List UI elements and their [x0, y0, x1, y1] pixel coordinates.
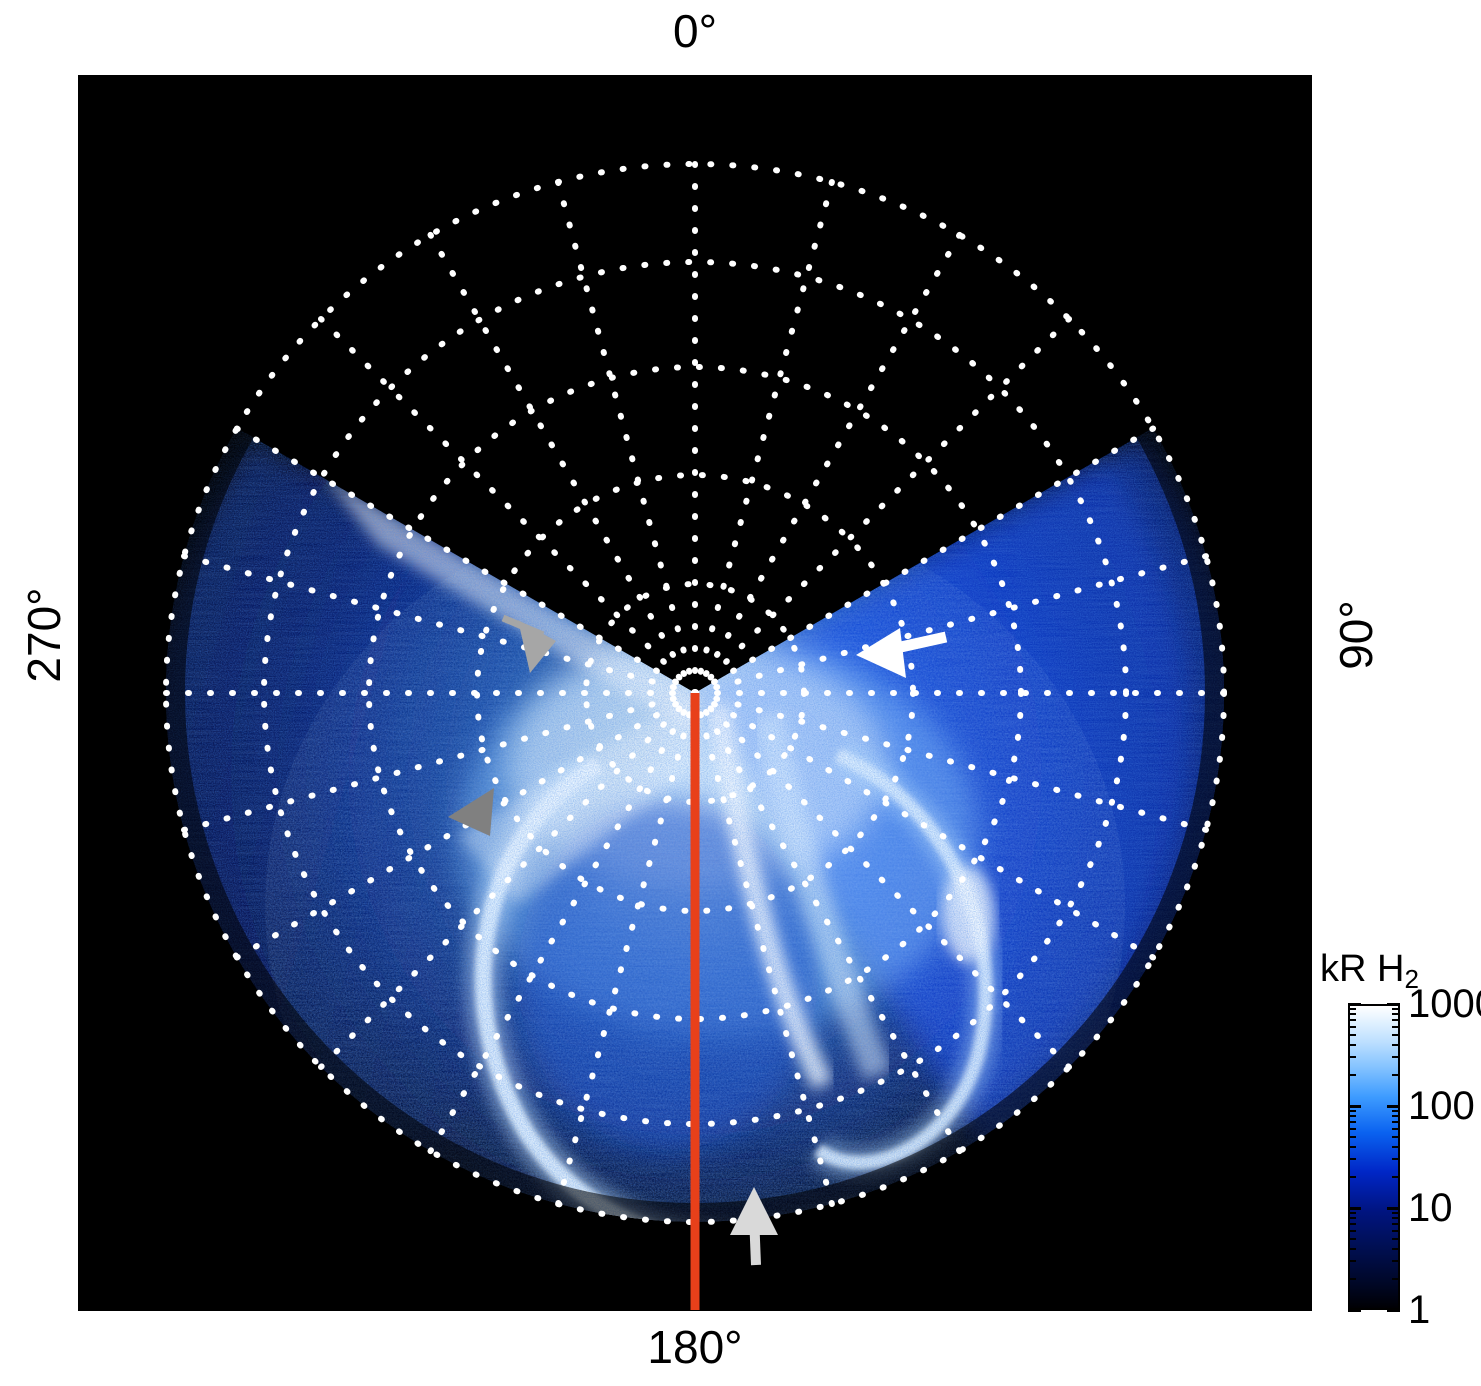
- colorbar-minor-tick: [1392, 1230, 1400, 1232]
- colorbar-minor-tick: [1392, 1019, 1400, 1021]
- colorbar-minor-tick: [1348, 1110, 1356, 1112]
- colorbar-gradient: [1348, 1004, 1400, 1310]
- colorbar-minor-tick: [1392, 1121, 1400, 1123]
- colorbar-minor-tick: [1348, 1115, 1356, 1117]
- colorbar-minor-tick: [1392, 1176, 1400, 1178]
- colorbar-minor-tick: [1392, 1278, 1400, 1280]
- colorbar-minor-tick: [1392, 1158, 1400, 1160]
- colorbar-minor-tick: [1348, 1146, 1356, 1148]
- axis-label-270-deg: 270°: [21, 575, 67, 695]
- colorbar-minor-tick: [1392, 1260, 1400, 1262]
- colorbar-minor-tick: [1392, 1238, 1400, 1240]
- colorbar-minor-tick: [1392, 1128, 1400, 1130]
- colorbar-minor-tick: [1392, 1212, 1400, 1214]
- colorbar-tick-label: 100: [1408, 1086, 1475, 1126]
- colorbar-minor-tick: [1348, 1238, 1356, 1240]
- colorbar-minor-tick: [1348, 1128, 1356, 1130]
- colorbar-minor-tick: [1348, 1008, 1356, 1010]
- colorbar-tick-label: 10: [1408, 1188, 1453, 1228]
- colorbar-major-tick: [1348, 1207, 1361, 1210]
- colorbar-minor-tick: [1348, 1044, 1356, 1046]
- colorbar-minor-tick: [1392, 1248, 1400, 1250]
- colorbar-minor-tick: [1348, 1230, 1356, 1232]
- colorbar-minor-tick: [1392, 1013, 1400, 1015]
- axis-label-180-deg: 180°: [0, 1324, 1390, 1370]
- colorbar-minor-tick: [1348, 1121, 1356, 1123]
- grid-spoke-345: [558, 182, 695, 693]
- colorbar-major-tick: [1387, 1207, 1400, 1210]
- colorbar-minor-tick: [1392, 1115, 1400, 1117]
- colorbar-minor-tick: [1348, 1176, 1356, 1178]
- colorbar-minor-tick: [1348, 1056, 1356, 1058]
- colorbar-title-text: kR H: [1320, 948, 1404, 990]
- colorbar-tick-label: 1: [1408, 1290, 1430, 1330]
- colorbar-minor-tick: [1392, 1136, 1400, 1138]
- colorbar-major-tick: [1348, 1105, 1361, 1108]
- colorbar-major-tick: [1348, 1309, 1361, 1312]
- colorbar-minor-tick: [1392, 1044, 1400, 1046]
- colorbar-major-tick: [1387, 1003, 1400, 1006]
- colorbar-minor-tick: [1348, 1223, 1356, 1225]
- colorbar-major-tick: [1348, 1003, 1361, 1006]
- colorbar-tick-label: 1000: [1408, 984, 1481, 1024]
- colorbar-minor-tick: [1348, 1013, 1356, 1015]
- colorbar-minor-tick: [1392, 1146, 1400, 1148]
- colorbar-minor-tick: [1392, 1008, 1400, 1010]
- polar-plot-panel: [78, 75, 1312, 1311]
- colorbar-minor-tick: [1348, 1034, 1356, 1036]
- colorbar-minor-tick: [1392, 1217, 1400, 1219]
- colorbar-minor-tick: [1392, 1223, 1400, 1225]
- colorbar-minor-tick: [1348, 1158, 1356, 1160]
- colorbar-title: kR H2: [1320, 948, 1419, 991]
- axis-label-0-deg: 0°: [0, 8, 1390, 54]
- axis-label-90-deg: 90°: [1333, 575, 1379, 695]
- colorbar-minor-tick: [1348, 1248, 1356, 1250]
- colorbar-minor-tick: [1348, 1212, 1356, 1214]
- colorbar-minor-tick: [1392, 1074, 1400, 1076]
- polar-plot-canvas: [78, 75, 1312, 1311]
- colorbar-minor-tick: [1392, 1056, 1400, 1058]
- colorbar-minor-tick: [1348, 1019, 1356, 1021]
- colorbar-major-tick: [1387, 1105, 1400, 1108]
- colorbar-minor-tick: [1348, 1136, 1356, 1138]
- colorbar-minor-tick: [1348, 1217, 1356, 1219]
- colorbar-minor-tick: [1392, 1026, 1400, 1028]
- colorbar-minor-tick: [1348, 1074, 1356, 1076]
- colorbar-minor-tick: [1392, 1110, 1400, 1112]
- grid-spoke-15: [695, 182, 832, 693]
- figure-root: 0° 180° 270° 90°: [0, 0, 1481, 1386]
- colorbar-minor-tick: [1348, 1278, 1356, 1280]
- colorbar-minor-tick: [1348, 1260, 1356, 1262]
- colorbar-minor-tick: [1392, 1034, 1400, 1036]
- colorbar-minor-tick: [1348, 1026, 1356, 1028]
- colorbar-major-tick: [1387, 1309, 1400, 1312]
